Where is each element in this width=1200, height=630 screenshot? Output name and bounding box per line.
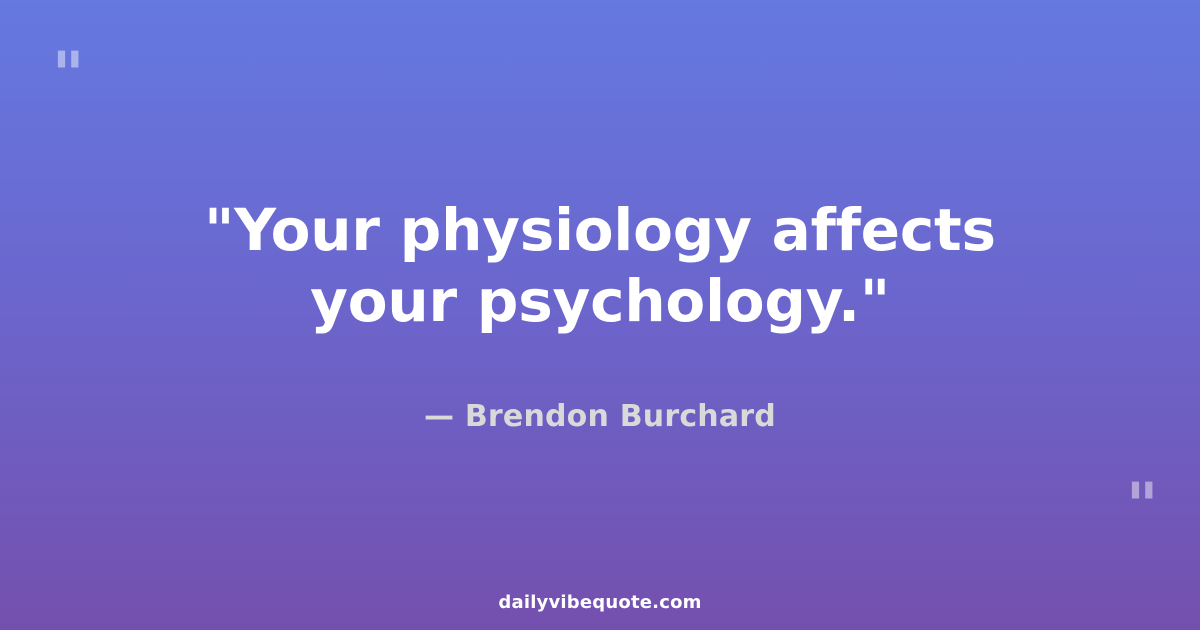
quote-text: "Your physiology affects your psychology… (190, 195, 1010, 337)
site-name: dailyvibequote.com (498, 592, 701, 613)
card-footer: dailyvibequote.com (0, 593, 1200, 612)
quote-card: " "Your physiology affects your psycholo… (0, 0, 1200, 630)
quote-author: — Brendon Burchard (424, 399, 776, 435)
quote-content: "Your physiology affects your psychology… (0, 0, 1200, 630)
close-quote-icon: " (1126, 475, 1159, 537)
